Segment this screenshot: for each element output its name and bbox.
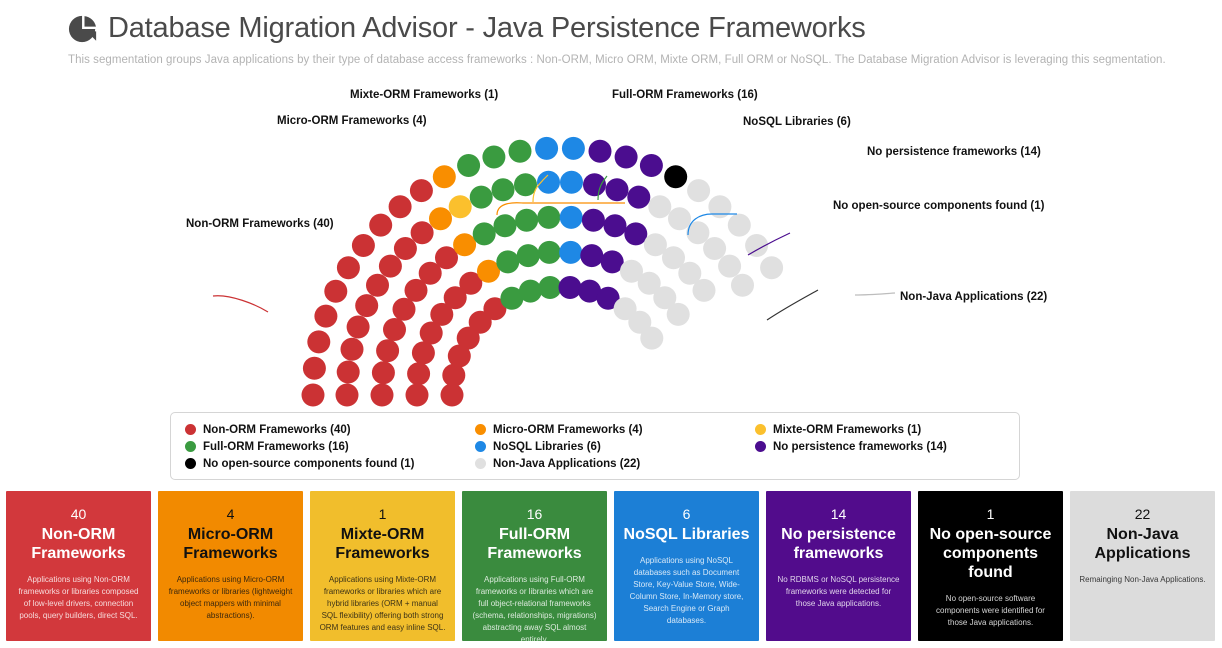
- chart-dot: [539, 276, 562, 299]
- segment-card-title: Micro-ORM Frameworks: [167, 525, 294, 563]
- chart-dot: [394, 237, 417, 260]
- leader-line-non-orm: [213, 296, 268, 312]
- segment-card[interactable]: 4Micro-ORM FrameworksApplications using …: [158, 491, 303, 641]
- chart-dot: [515, 209, 538, 232]
- legend-item-label: Full-ORM Frameworks (16): [203, 441, 349, 453]
- chart-dot: [347, 316, 370, 339]
- chart-dot: [708, 195, 731, 218]
- chart-dot: [336, 384, 359, 407]
- chart-dot: [372, 361, 395, 384]
- callout-mixte-orm: Mixte-ORM Frameworks (1): [350, 89, 498, 101]
- legend-color-swatch: [475, 441, 486, 452]
- segment-card-description: Remainging Non-Java Applications.: [1079, 574, 1206, 586]
- segment-card-title: NoSQL Libraries: [623, 525, 750, 544]
- segment-card[interactable]: 6NoSQL LibrariesApplications using NoSQL…: [614, 491, 759, 641]
- legend-item[interactable]: Mixte-ORM Frameworks (1): [755, 424, 1005, 436]
- legend-item[interactable]: NoSQL Libraries (6): [475, 441, 755, 453]
- legend-color-swatch: [755, 441, 766, 452]
- segment-card-description: No RDBMS or NoSQL persistence frameworks…: [775, 574, 902, 610]
- legend-color-swatch: [475, 458, 486, 469]
- chart-dot: [668, 207, 691, 230]
- chart-dot: [352, 234, 375, 257]
- segment-card-description: Applications using NoSQL databases such …: [623, 555, 750, 627]
- legend-color-swatch: [185, 458, 196, 469]
- chart-dot: [640, 154, 663, 177]
- segment-card-count: 16: [471, 505, 598, 523]
- callout-non-java: Non-Java Applications (22): [900, 291, 1047, 303]
- chart-dot: [449, 195, 472, 218]
- chart-dot: [411, 221, 434, 244]
- chart-dot: [589, 140, 612, 163]
- segment-card-count: 40: [15, 505, 142, 523]
- chart-dot: [687, 179, 710, 202]
- segment-card-title: Full-ORM Frameworks: [471, 525, 598, 563]
- chart-dot: [303, 357, 326, 380]
- segment-card-title: Non-Java Applications: [1079, 525, 1206, 563]
- segment-card-count: 1: [927, 505, 1054, 523]
- chart-dot: [718, 255, 741, 278]
- segment-card[interactable]: 1No open-source components foundNo open-…: [918, 491, 1063, 641]
- segment-card[interactable]: 22Non-Java ApplicationsRemainging Non-Ja…: [1070, 491, 1215, 641]
- segment-card-count: 4: [167, 505, 294, 523]
- chart-dot: [517, 244, 540, 267]
- chart-dot: [535, 137, 558, 160]
- legend-item[interactable]: No persistence frameworks (14): [755, 441, 1005, 453]
- chart-dot: [412, 341, 435, 364]
- segment-card-count: 6: [623, 505, 750, 523]
- callout-no-oss: No open-source components found (1): [833, 200, 1044, 212]
- chart-dot: [337, 256, 360, 279]
- legend-color-swatch: [475, 424, 486, 435]
- arc-dot-chart: Mixte-ORM Frameworks (1) Micro-ORM Frame…: [0, 80, 1222, 410]
- chart-dot: [366, 274, 389, 297]
- chart-legend: Non-ORM Frameworks (40)Micro-ORM Framewo…: [170, 412, 1020, 480]
- chart-dot: [627, 186, 650, 209]
- chart-dot: [731, 274, 754, 297]
- chart-dot: [496, 250, 519, 273]
- chart-dot: [355, 294, 378, 317]
- leader-line-no-oss: [767, 290, 818, 320]
- chart-dot: [560, 206, 583, 229]
- chart-dot: [337, 361, 360, 384]
- chart-dot: [492, 178, 515, 201]
- segment-card-description: Applications using Full-ORM frameworks o…: [471, 574, 598, 641]
- segment-card-title: No open-source components found: [927, 525, 1054, 582]
- chart-dot: [341, 338, 364, 361]
- legend-color-swatch: [185, 424, 196, 435]
- segment-card[interactable]: 16Full-ORM FrameworksApplications using …: [462, 491, 607, 641]
- chart-dot: [433, 165, 456, 188]
- callout-full-orm: Full-ORM Frameworks (16): [612, 89, 758, 101]
- chart-dot: [482, 146, 505, 169]
- segment-card-count: 14: [775, 505, 902, 523]
- chart-dot: [648, 195, 671, 218]
- chart-dot: [538, 241, 561, 264]
- chart-dot: [494, 214, 517, 237]
- page-title: Database Migration Advisor - Java Persis…: [108, 8, 866, 48]
- chart-dot: [406, 384, 429, 407]
- legend-item-label: NoSQL Libraries (6): [493, 441, 601, 453]
- legend-item[interactable]: No open-source components found (1): [185, 458, 475, 470]
- legend-grid: Non-ORM Frameworks (40)Micro-ORM Framewo…: [185, 421, 1005, 472]
- legend-item[interactable]: Micro-ORM Frameworks (4): [475, 424, 755, 436]
- chart-dot: [703, 237, 726, 260]
- segment-card-description: Applications using Micro-ORM frameworks …: [167, 574, 294, 622]
- chart-dot: [429, 207, 452, 230]
- chart-dot: [537, 206, 560, 229]
- callout-no-persistence: No persistence frameworks (14): [867, 146, 1041, 158]
- legend-item[interactable]: Full-ORM Frameworks (16): [185, 441, 475, 453]
- chart-dot: [441, 384, 464, 407]
- chart-dot: [760, 256, 783, 279]
- chart-dot: [604, 214, 627, 237]
- legend-item-label: Mixte-ORM Frameworks (1): [773, 424, 921, 436]
- chart-dot: [667, 303, 690, 326]
- chart-dot: [379, 255, 402, 278]
- chart-dot: [371, 384, 394, 407]
- segment-card-count: 1: [319, 505, 446, 523]
- chart-dot: [559, 241, 582, 264]
- chart-dot: [664, 165, 687, 188]
- chart-dot: [509, 140, 532, 163]
- chart-dot: [324, 280, 347, 303]
- callout-non-orm: Non-ORM Frameworks (40): [186, 218, 334, 230]
- chart-dot: [457, 154, 480, 177]
- chart-dot: [559, 276, 582, 299]
- segment-card-description: Applications using Non-ORM frameworks or…: [15, 574, 142, 622]
- chart-dot: [582, 209, 605, 232]
- legend-item[interactable]: Non-ORM Frameworks (40): [185, 424, 475, 436]
- legend-item[interactable]: Non-Java Applications (22): [475, 458, 755, 470]
- legend-item-label: Micro-ORM Frameworks (4): [493, 424, 643, 436]
- segment-card-title: No persistence frameworks: [775, 525, 902, 563]
- legend-item-label: No persistence frameworks (14): [773, 441, 947, 453]
- leader-line-non-java: [855, 293, 895, 295]
- chart-dot: [728, 214, 751, 237]
- chart-dot: [624, 222, 647, 245]
- chart-dot: [519, 280, 542, 303]
- chart-dot: [583, 173, 606, 196]
- callout-nosql: NoSQL Libraries (6): [743, 116, 851, 128]
- chart-dot: [389, 195, 412, 218]
- chart-dot: [470, 186, 493, 209]
- chart-dot: [640, 327, 663, 350]
- chart-dot: [369, 214, 392, 237]
- chart-dot: [307, 330, 330, 353]
- arc-dot-chart-svg: [0, 80, 1222, 410]
- chart-dot: [615, 146, 638, 169]
- chart-dot: [302, 384, 325, 407]
- chart-dot: [383, 318, 406, 341]
- segment-card[interactable]: 40Non-ORM FrameworksApplications using N…: [6, 491, 151, 641]
- chart-dot: [606, 178, 629, 201]
- legend-color-swatch: [185, 441, 196, 452]
- chart-dot: [473, 222, 496, 245]
- chart-dot: [580, 244, 603, 267]
- dot-layer: [302, 137, 784, 407]
- segment-card[interactable]: 14No persistence frameworksNo RDBMS or N…: [766, 491, 911, 641]
- chart-dot: [514, 173, 537, 196]
- legend-item-label: No open-source components found (1): [203, 458, 414, 470]
- page-header: Database Migration Advisor - Java Persis…: [0, 0, 1222, 48]
- chart-dot: [453, 233, 476, 256]
- segment-card-description: No open-source software components were …: [927, 593, 1054, 629]
- segment-card[interactable]: 1Mixte-ORM FrameworksApplications using …: [310, 491, 455, 641]
- segment-card-title: Mixte-ORM Frameworks: [319, 525, 446, 563]
- segment-card-count: 22: [1079, 505, 1206, 523]
- chart-dot: [407, 362, 430, 385]
- legend-item-label: Non-ORM Frameworks (40): [203, 424, 351, 436]
- chart-dot: [560, 171, 583, 194]
- chart-dot: [376, 339, 399, 362]
- chart-dot: [562, 137, 585, 160]
- callout-micro-orm: Micro-ORM Frameworks (4): [277, 115, 427, 127]
- legend-item-label: Non-Java Applications (22): [493, 458, 640, 470]
- chart-dot: [314, 305, 337, 328]
- segment-card-title: Non-ORM Frameworks: [15, 525, 142, 563]
- segment-card-description: Applications using Mixte-ORM frameworks …: [319, 574, 446, 634]
- segment-cards-row: 40Non-ORM FrameworksApplications using N…: [6, 491, 1216, 641]
- pie-chart-icon: [68, 14, 98, 44]
- legend-color-swatch: [755, 424, 766, 435]
- page-subtitle: This segmentation groups Java applicatio…: [68, 54, 1166, 66]
- chart-dot: [693, 279, 716, 302]
- chart-dot: [410, 179, 433, 202]
